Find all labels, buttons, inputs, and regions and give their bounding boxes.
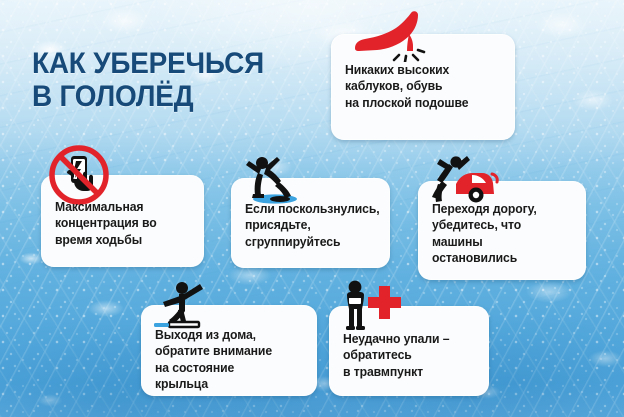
card-line: Если поскользнулись, bbox=[245, 201, 377, 217]
card-line: на плоской подошве bbox=[345, 95, 501, 111]
card-line: убедитесь, что bbox=[432, 217, 573, 233]
card-line: Выходя из дома, bbox=[155, 327, 303, 343]
card-line: концентрация во bbox=[55, 215, 191, 231]
card-line: машины bbox=[432, 234, 573, 250]
card-crossing-road-text: Переходя дорогу, убедитесь, что машины о… bbox=[432, 201, 573, 267]
poster-title-line-2: В ГОЛОЛЁД bbox=[32, 80, 311, 113]
card-line: Неудачно упали – bbox=[343, 331, 476, 347]
card-line: каблуков, обувь bbox=[345, 78, 501, 94]
card-line: обратитесь bbox=[343, 347, 476, 363]
card-line: Переходя дорогу, bbox=[432, 201, 573, 217]
card-line: обратите внимание bbox=[155, 343, 303, 359]
card-trauma-centre-text: Неудачно упали – обратитесь в травмпункт bbox=[343, 331, 476, 380]
card-max-concentration-text: Максимальная концентрация во время ходьб… bbox=[55, 199, 191, 248]
card-trauma-centre: Неудачно упали – обратитесь в травмпункт bbox=[329, 306, 489, 396]
card-check-porch: Выходя из дома, обратите внимание на сос… bbox=[141, 305, 317, 396]
card-max-concentration: Максимальная концентрация во время ходьб… bbox=[41, 175, 204, 267]
gololed-safety-infographic: КАК УБЕРЕЧЬСЯ В ГОЛОЛЁД Никаких высоких … bbox=[0, 0, 624, 417]
card-line: присядьте, bbox=[245, 217, 377, 233]
card-line: остановились bbox=[432, 250, 573, 266]
poster-title: КАК УБЕРЕЧЬСЯ В ГОЛОЛЁД bbox=[32, 47, 311, 113]
poster-title-line-1: КАК УБЕРЕЧЬСЯ bbox=[32, 47, 311, 80]
card-line: Максимальная bbox=[55, 199, 191, 215]
card-line: время ходьбы bbox=[55, 232, 191, 248]
card-line: на состояние bbox=[155, 360, 303, 376]
card-crossing-road: Переходя дорогу, убедитесь, что машины о… bbox=[418, 181, 586, 280]
card-no-high-heels-text: Никаких высоких каблуков, обувь на плоск… bbox=[345, 62, 501, 111]
card-if-you-slip-text: Если поскользнулись, присядьте, сгруппир… bbox=[245, 201, 377, 250]
card-no-high-heels: Никаких высоких каблуков, обувь на плоск… bbox=[331, 34, 515, 140]
card-if-you-slip: Если поскользнулись, присядьте, сгруппир… bbox=[231, 178, 390, 268]
card-line: в травмпункт bbox=[343, 364, 476, 380]
card-line: крыльца bbox=[155, 376, 303, 392]
card-line: Никаких высоких bbox=[345, 62, 501, 78]
card-check-porch-text: Выходя из дома, обратите внимание на сос… bbox=[155, 327, 303, 393]
card-line: сгруппируйтесь bbox=[245, 234, 377, 250]
